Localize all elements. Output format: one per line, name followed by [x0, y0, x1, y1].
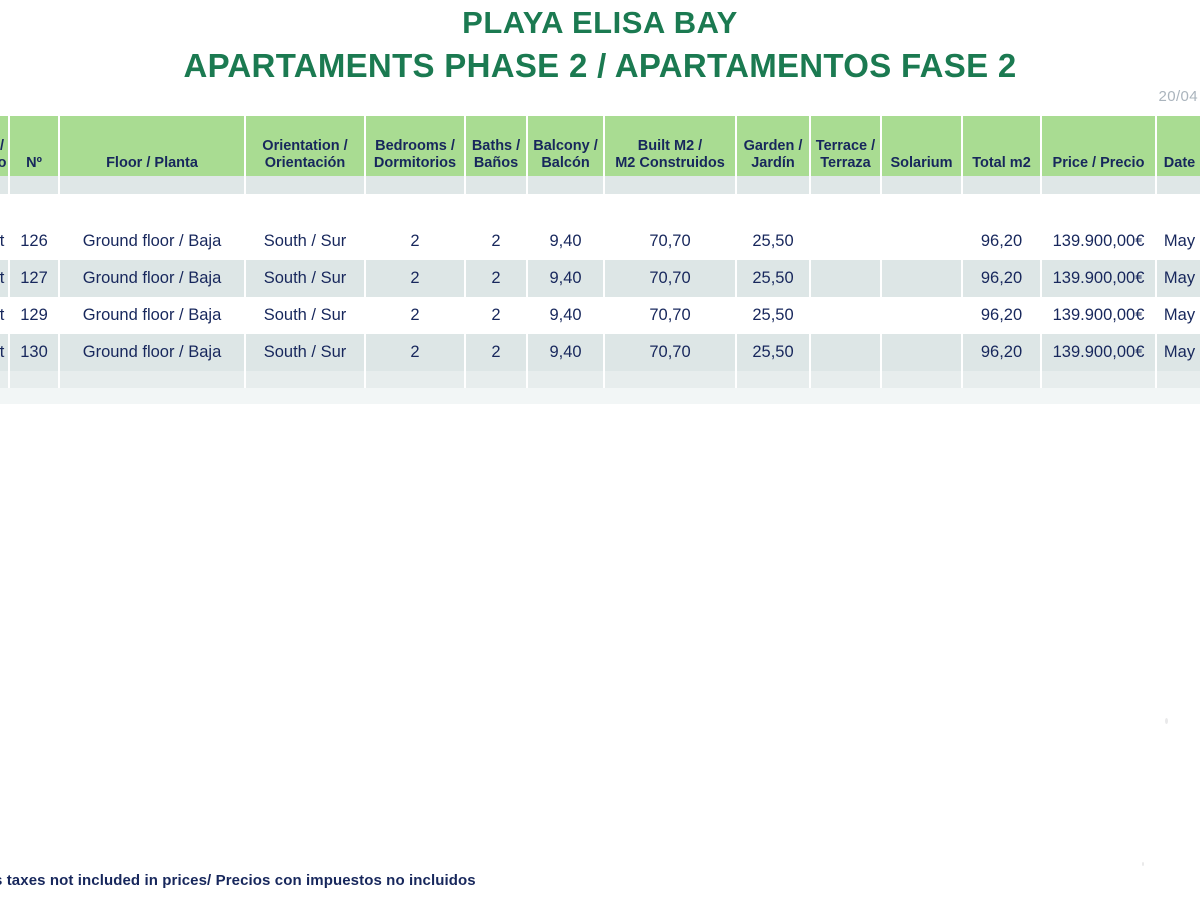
spacer-cell [881, 176, 962, 194]
tax-disclaimer-note: s taxes not included in prices/ Precios … [0, 872, 476, 889]
cell-garden: 25,50 [736, 297, 810, 334]
spacer-cell [59, 176, 245, 194]
table-body [0, 176, 1200, 223]
column-header-line-1: Built M2 / [605, 138, 735, 155]
cell-garden: 25,50 [736, 260, 810, 297]
spacer-cell [9, 388, 59, 404]
cell-date: May [1156, 297, 1200, 334]
spacer-cell [9, 371, 59, 388]
column-header-line-2: Balcón [528, 155, 603, 172]
spacer-cell [881, 194, 962, 223]
cell-number: 126 [9, 223, 59, 260]
spacer-cell [245, 194, 365, 223]
table-footer-body [0, 371, 1200, 404]
price-list-table: /oNºFloor / PlantaOrientation /Orientaci… [0, 116, 1200, 404]
spacer-cell [1041, 388, 1156, 404]
cell-price: 139.900,00€ [1041, 223, 1156, 260]
cell-orientation: South / Sur [245, 223, 365, 260]
spacer-cell [962, 371, 1041, 388]
table-row[interactable]: t126Ground floor / BajaSouth / Sur229,40… [0, 223, 1200, 260]
cell-type: t [0, 223, 9, 260]
column-header-total[interactable]: Total m2 [962, 116, 1041, 176]
spacer-cell [245, 388, 365, 404]
column-header-line-1: Baths / [466, 138, 526, 155]
column-header-baths[interactable]: Baths /Baños [465, 116, 527, 176]
column-header-line-1: Orientation / [246, 138, 364, 155]
column-header-bedrooms[interactable]: Bedrooms /Dormitorios [365, 116, 465, 176]
table-data-body: t126Ground floor / BajaSouth / Sur229,40… [0, 223, 1200, 371]
spacer-cell [465, 388, 527, 404]
column-header-line-2: Jardín [737, 155, 809, 172]
cell-floor: Ground floor / Baja [59, 297, 245, 334]
column-header-line-1: Terrace / [811, 138, 880, 155]
table-head: /oNºFloor / PlantaOrientation /Orientaci… [0, 116, 1200, 176]
spacer-cell [736, 176, 810, 194]
spacer-cell [365, 194, 465, 223]
document-header: PLAYA ELISA BAY APARTAMENTS PHASE 2 / AP… [0, 0, 1200, 86]
cell-built: 70,70 [604, 260, 736, 297]
spacer-cell [881, 371, 962, 388]
cell-orientation: South / Sur [245, 334, 365, 371]
column-header-line-2: Nº [10, 155, 58, 172]
cell-number: 129 [9, 297, 59, 334]
spacer-cell [1041, 371, 1156, 388]
document-title-line-2: APARTAMENTS PHASE 2 / APARTAMENTOS FASE … [0, 46, 1200, 86]
spacer-cell [59, 388, 245, 404]
column-header-line-2: M2 Construidos [605, 155, 735, 172]
cell-solarium [881, 297, 962, 334]
cell-built: 70,70 [604, 334, 736, 371]
spacer-cell [962, 176, 1041, 194]
cell-number: 127 [9, 260, 59, 297]
table-row[interactable]: t127Ground floor / BajaSouth / Sur229,40… [0, 260, 1200, 297]
spacer-cell [810, 176, 881, 194]
column-header-line-1: Bedrooms / [366, 138, 464, 155]
cell-baths: 2 [465, 223, 527, 260]
cell-type: t [0, 297, 9, 334]
column-header-number[interactable]: Nº [9, 116, 59, 176]
cell-total: 96,20 [962, 334, 1041, 371]
scan-artifact [1142, 862, 1144, 866]
spacer-cell [604, 388, 736, 404]
column-header-built[interactable]: Built M2 /M2 Construidos [604, 116, 736, 176]
spacer-cell [0, 371, 9, 388]
spacer-cell [465, 371, 527, 388]
table-spacer-row-top [0, 176, 1200, 194]
table-spacer-row-bottom-2 [0, 388, 1200, 404]
cell-price: 139.900,00€ [1041, 334, 1156, 371]
spacer-cell [465, 176, 527, 194]
cell-floor: Ground floor / Baja [59, 260, 245, 297]
spacer-cell [1041, 194, 1156, 223]
table-row[interactable]: t130Ground floor / BajaSouth / Sur229,40… [0, 334, 1200, 371]
column-header-garden[interactable]: Garden /Jardín [736, 116, 810, 176]
spacer-cell [527, 176, 604, 194]
spacer-cell [59, 194, 245, 223]
column-header-line-2: Terraza [811, 155, 880, 172]
column-header-line-2: Baños [466, 155, 526, 172]
spacer-cell [465, 194, 527, 223]
table-header-row: /oNºFloor / PlantaOrientation /Orientaci… [0, 116, 1200, 176]
column-header-terrace[interactable]: Terrace /Terraza [810, 116, 881, 176]
cell-balcony: 9,40 [527, 334, 604, 371]
cell-terrace [810, 223, 881, 260]
cell-baths: 2 [465, 334, 527, 371]
cell-terrace [810, 260, 881, 297]
spacer-cell [810, 194, 881, 223]
spacer-cell [59, 371, 245, 388]
cell-built: 70,70 [604, 297, 736, 334]
cell-garden: 25,50 [736, 334, 810, 371]
cell-price: 139.900,00€ [1041, 260, 1156, 297]
column-header-floor[interactable]: Floor / Planta [59, 116, 245, 176]
spacer-cell [810, 388, 881, 404]
cell-terrace [810, 297, 881, 334]
column-header-balcony[interactable]: Balcony /Balcón [527, 116, 604, 176]
column-header-solarium[interactable]: Solarium [881, 116, 962, 176]
column-header-line-2: Price / Precio [1042, 155, 1155, 172]
column-header-line-1: / [0, 138, 8, 155]
spacer-cell [604, 194, 736, 223]
cell-type: t [0, 260, 9, 297]
cell-bedrooms: 2 [365, 223, 465, 260]
spacer-cell [604, 176, 736, 194]
price-list-table-container: /oNºFloor / PlantaOrientation /Orientaci… [0, 116, 1200, 404]
cell-solarium [881, 260, 962, 297]
spacer-cell [527, 371, 604, 388]
cell-total: 96,20 [962, 260, 1041, 297]
column-header-date[interactable]: Date [1156, 116, 1200, 176]
cell-balcony: 9,40 [527, 260, 604, 297]
spacer-cell [245, 176, 365, 194]
column-header-line-2: Date [1157, 155, 1200, 172]
spacer-cell [0, 176, 9, 194]
spacer-cell [1156, 388, 1200, 404]
column-header-line-2: Floor / Planta [60, 155, 244, 172]
spacer-cell [1041, 176, 1156, 194]
cell-total: 96,20 [962, 223, 1041, 260]
cell-number: 130 [9, 334, 59, 371]
column-header-line-2: Dormitorios [366, 155, 464, 172]
column-header-orientation[interactable]: Orientation /Orientación [245, 116, 365, 176]
cell-bedrooms: 2 [365, 297, 465, 334]
spacer-cell [0, 388, 9, 404]
cell-garden: 25,50 [736, 223, 810, 260]
cell-orientation: South / Sur [245, 260, 365, 297]
table-spacer-row-white [0, 194, 1200, 223]
cell-bedrooms: 2 [365, 260, 465, 297]
spacer-cell [962, 388, 1041, 404]
cell-date: May [1156, 223, 1200, 260]
spacer-cell [365, 388, 465, 404]
spacer-cell [881, 388, 962, 404]
cell-date: May [1156, 260, 1200, 297]
column-header-line-2: Total m2 [963, 155, 1040, 172]
cell-terrace [810, 334, 881, 371]
spacer-cell [1156, 194, 1200, 223]
date-stamp: 20/04 [1158, 88, 1198, 105]
spacer-cell [527, 194, 604, 223]
spacer-cell [1156, 371, 1200, 388]
spacer-cell [736, 388, 810, 404]
cell-solarium [881, 334, 962, 371]
cell-balcony: 9,40 [527, 297, 604, 334]
spacer-cell [736, 371, 810, 388]
table-spacer-row-bottom [0, 371, 1200, 388]
table-row[interactable]: t129Ground floor / BajaSouth / Sur229,40… [0, 297, 1200, 334]
cell-price: 139.900,00€ [1041, 297, 1156, 334]
cell-baths: 2 [465, 297, 527, 334]
spacer-cell [9, 176, 59, 194]
cell-floor: Ground floor / Baja [59, 334, 245, 371]
column-header-line-1: Garden / [737, 138, 809, 155]
column-header-type[interactable]: /o [0, 116, 9, 176]
column-header-line-1: Balcony / [528, 138, 603, 155]
cell-solarium [881, 223, 962, 260]
spacer-cell [9, 194, 59, 223]
cell-baths: 2 [465, 260, 527, 297]
spacer-cell [0, 194, 9, 223]
cell-type: t [0, 334, 9, 371]
column-header-price[interactable]: Price / Precio [1041, 116, 1156, 176]
cell-floor: Ground floor / Baja [59, 223, 245, 260]
scan-artifact [1165, 718, 1168, 724]
column-header-line-2: o [0, 155, 8, 172]
spacer-cell [604, 371, 736, 388]
cell-bedrooms: 2 [365, 334, 465, 371]
cell-balcony: 9,40 [527, 223, 604, 260]
spacer-cell [1156, 176, 1200, 194]
cell-orientation: South / Sur [245, 297, 365, 334]
column-header-line-2: Solarium [882, 155, 961, 172]
spacer-cell [962, 194, 1041, 223]
column-header-line-2: Orientación [246, 155, 364, 172]
spacer-cell [245, 371, 365, 388]
spacer-cell [365, 176, 465, 194]
spacer-cell [736, 194, 810, 223]
spacer-cell [810, 371, 881, 388]
cell-date: May [1156, 334, 1200, 371]
spacer-cell [365, 371, 465, 388]
cell-total: 96,20 [962, 297, 1041, 334]
document-title-line-1: PLAYA ELISA BAY [0, 4, 1200, 42]
spacer-cell [527, 388, 604, 404]
cell-built: 70,70 [604, 223, 736, 260]
